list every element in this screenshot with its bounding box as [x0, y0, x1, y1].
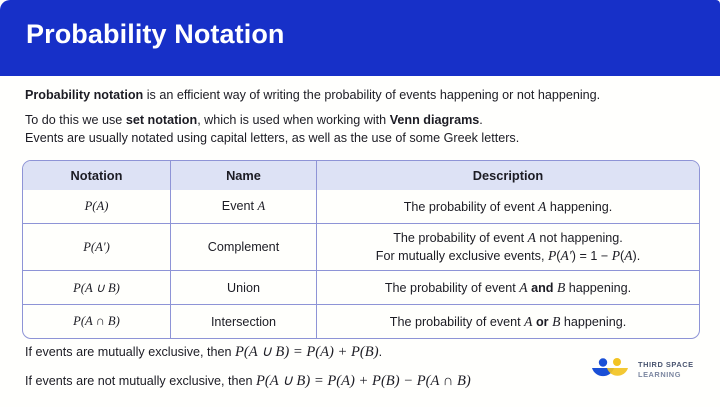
table-row: P(A′) Complement The probability of even…: [23, 224, 699, 271]
table-head: Notation Name Description: [23, 161, 699, 190]
footer-text-1: If events are mutually exclusive, then: [25, 345, 235, 359]
logo-wordmark: THIRD SPACE LEARNING: [638, 360, 694, 379]
footer-formula-line-1: If events are mutually exclusive, then P…: [25, 343, 382, 361]
description-line-1: The probability of event A or B happenin…: [390, 315, 626, 329]
footer-suffix-1: .: [379, 345, 383, 359]
cell-notation: P(A ∩ B): [23, 305, 171, 338]
cell-name: Union: [171, 271, 317, 305]
cell-name-text: Event A: [222, 199, 265, 213]
cell-name: Intersection: [171, 305, 317, 338]
intro-line-1-rest: is an efficient way of writing the proba…: [143, 88, 600, 102]
column-header-name: Name: [171, 161, 317, 190]
brand-logo: THIRD SPACE LEARNING: [588, 357, 706, 389]
description-line-1: The probability of event A and B happeni…: [385, 281, 631, 295]
page-title: Probability Notation: [26, 19, 285, 50]
description-line-1: The probability of event A not happening…: [323, 229, 693, 247]
cell-description: The probability of event A or B happenin…: [317, 305, 699, 338]
column-header-description: Description: [317, 161, 699, 190]
intro-line-2: To do this we use set notation, which is…: [25, 111, 705, 129]
cell-description: The probability of event A happening.: [317, 190, 699, 224]
cell-notation: P(A ∪ B): [23, 271, 171, 305]
slide-canvas: Probability Notation Probability notatio…: [0, 0, 720, 407]
cell-description: The probability of event A not happening…: [317, 224, 699, 271]
intro-line-2-a: To do this we use: [25, 113, 126, 127]
column-header-notation: Notation: [23, 161, 171, 190]
intro-line-2-bold-venn-diagrams: Venn diagrams: [390, 113, 480, 127]
description-line-2: For mutually exclusive events, P(A′) = 1…: [323, 247, 693, 265]
table-body: P(A) Event A The probability of event A …: [23, 190, 699, 338]
table-row: P(A ∩ B) Intersection The probability of…: [23, 305, 699, 338]
intro-text-block: Probability notation is an efficient way…: [25, 86, 705, 154]
intro-line-2-c: .: [479, 113, 483, 127]
logo-line-1: THIRD SPACE: [638, 360, 694, 370]
third-space-learning-logo-icon: [588, 357, 634, 385]
cell-notation: P(A): [23, 190, 171, 224]
cell-notation: P(A′): [23, 224, 171, 271]
intro-line-2-bold-set-notation: set notation: [126, 113, 197, 127]
cell-name: Event A: [171, 190, 317, 224]
logo-line-2: LEARNING: [638, 370, 694, 380]
footer-formula-line-2: If events are not mutually exclusive, th…: [25, 372, 471, 390]
intro-line-2-b: , which is used when working with: [197, 113, 390, 127]
header-banner: Probability Notation: [0, 0, 720, 76]
intro-line-1: Probability notation is an efficient way…: [25, 86, 705, 104]
intro-line-1-bold: Probability notation: [25, 88, 143, 102]
table-header-row: Notation Name Description: [23, 161, 699, 190]
table-row: P(A ∪ B) Union The probability of event …: [23, 271, 699, 305]
cell-description: The probability of event A and B happeni…: [317, 271, 699, 305]
intro-line-3: Events are usually notated using capital…: [25, 129, 705, 147]
cell-name: Complement: [171, 224, 317, 271]
footer-formula-2: P(A ∪ B) = P(A) + P(B) − P(A ∩ B): [256, 373, 471, 389]
notation-table: Notation Name Description P(A) Event A T…: [22, 160, 700, 339]
table-row: P(A) Event A The probability of event A …: [23, 190, 699, 224]
footer-formula-1: P(A ∪ B) = P(A) + P(B): [235, 344, 379, 360]
footer-text-2: If events are not mutually exclusive, th…: [25, 374, 256, 388]
description-line-1: The probability of event A happening.: [404, 200, 613, 214]
